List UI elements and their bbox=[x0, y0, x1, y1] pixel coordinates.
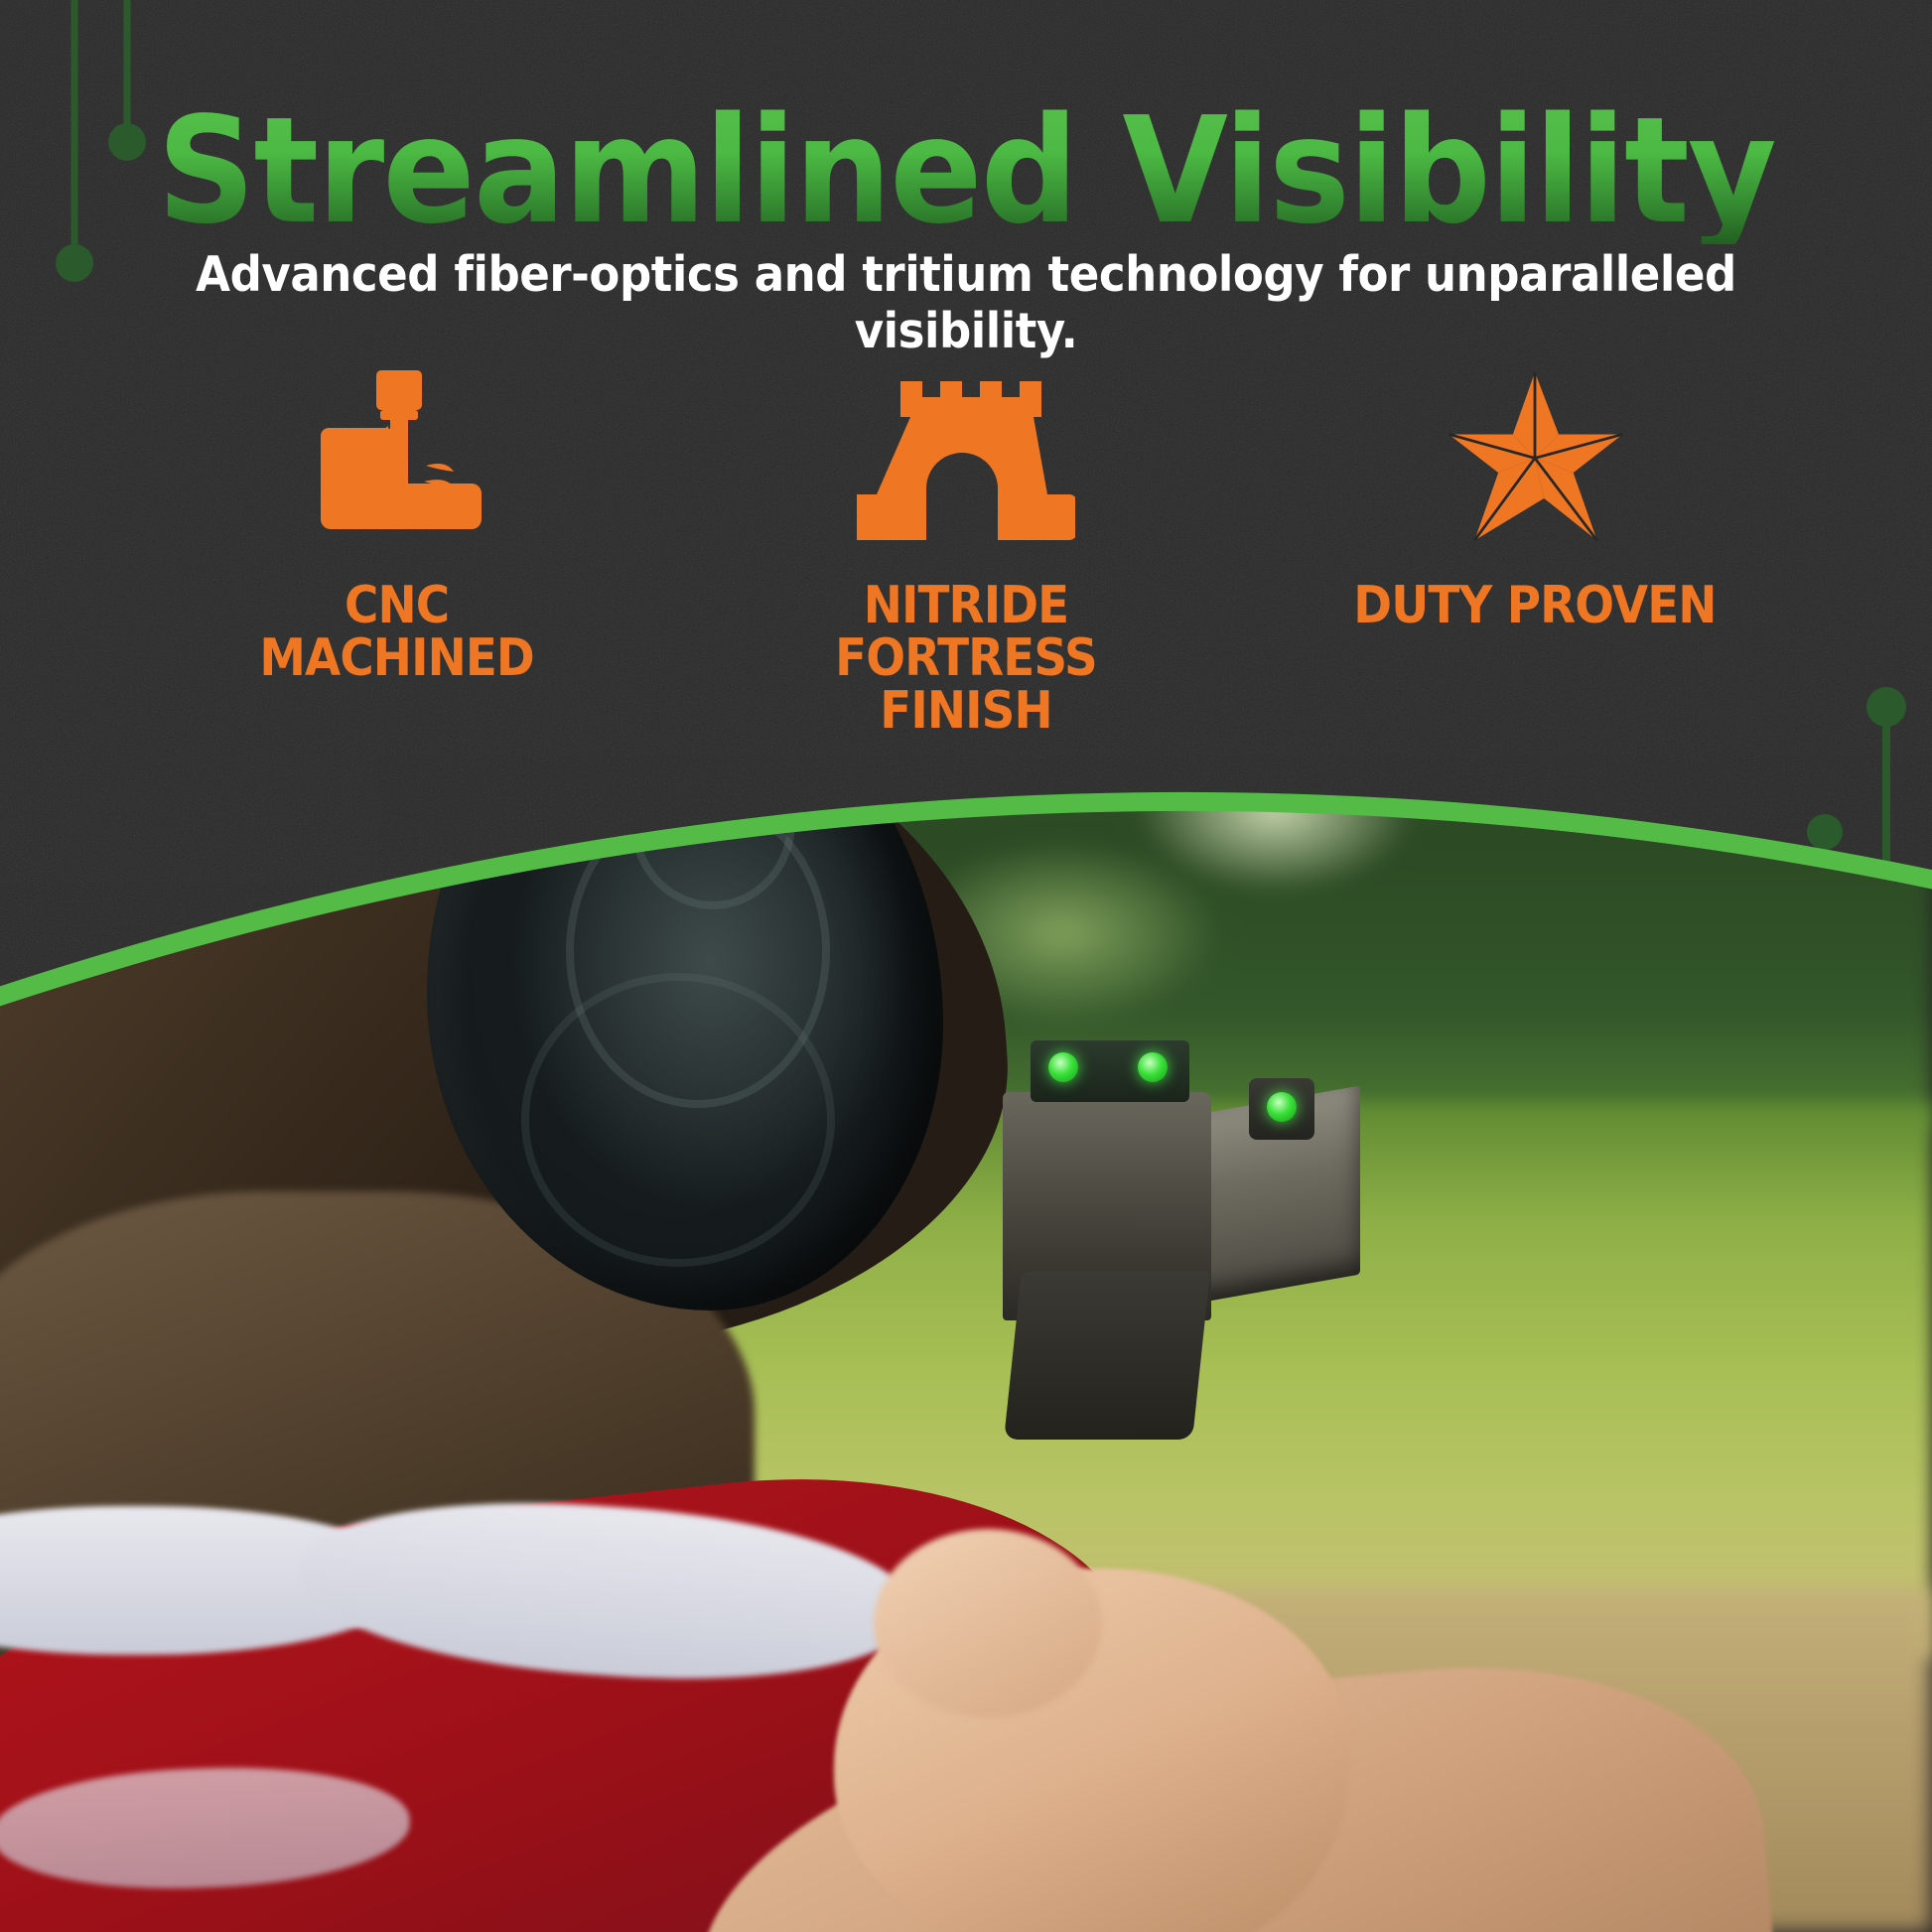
flag-white-stripe bbox=[0, 1761, 412, 1895]
front-sight-green-dot bbox=[1267, 1092, 1297, 1122]
feature-row: CNC MACHINED N bbox=[139, 367, 1793, 685]
fortress-icon bbox=[857, 367, 1075, 546]
shooter-thumb bbox=[874, 1529, 1102, 1718]
page-subtitle: Advanced fiber-optics and tritium techno… bbox=[77, 246, 1855, 359]
header-content: Streamlined Visibility Advanced fiber-op… bbox=[0, 0, 1932, 894]
page-title: Streamlined Visibility bbox=[68, 97, 1864, 244]
feature-label-line: MACHINED bbox=[260, 632, 535, 685]
poster-canvas: Streamlined Visibility Advanced fiber-op… bbox=[0, 0, 1932, 1932]
feature-cnc-machined[interactable]: CNC MACHINED bbox=[139, 367, 655, 685]
rear-sight-green-dot-right bbox=[1138, 1052, 1168, 1082]
feature-duty-proven[interactable]: DUTY PROVEN bbox=[1277, 367, 1793, 632]
pistol-grip-rear bbox=[1004, 1271, 1210, 1440]
feature-label-line: CNC bbox=[260, 580, 535, 632]
muff-contour-line bbox=[521, 973, 835, 1267]
pistol bbox=[1003, 1052, 1380, 1380]
front-sight-post bbox=[1249, 1078, 1314, 1140]
feature-label-cnc-machined: CNC MACHINED bbox=[260, 580, 535, 685]
feature-label-duty-proven: DUTY PROVEN bbox=[1353, 580, 1716, 632]
feature-label-line: FINISH bbox=[734, 685, 1198, 738]
cnc-mill-icon bbox=[293, 367, 501, 546]
flag-white-stripe bbox=[293, 1485, 918, 1697]
star-icon bbox=[1436, 367, 1634, 546]
feature-label-nitride-fortress-finish: NITRIDE FORTRESS FINISH bbox=[734, 580, 1198, 738]
feature-label-line: NITRIDE FORTRESS bbox=[734, 580, 1198, 685]
rear-sight-green-dot-left bbox=[1048, 1052, 1078, 1082]
feature-nitride-fortress-finish[interactable]: NITRIDE FORTRESS FINISH bbox=[708, 367, 1224, 738]
rear-sight-blade bbox=[1031, 1040, 1189, 1102]
feature-label-line: DUTY PROVEN bbox=[1353, 580, 1716, 632]
